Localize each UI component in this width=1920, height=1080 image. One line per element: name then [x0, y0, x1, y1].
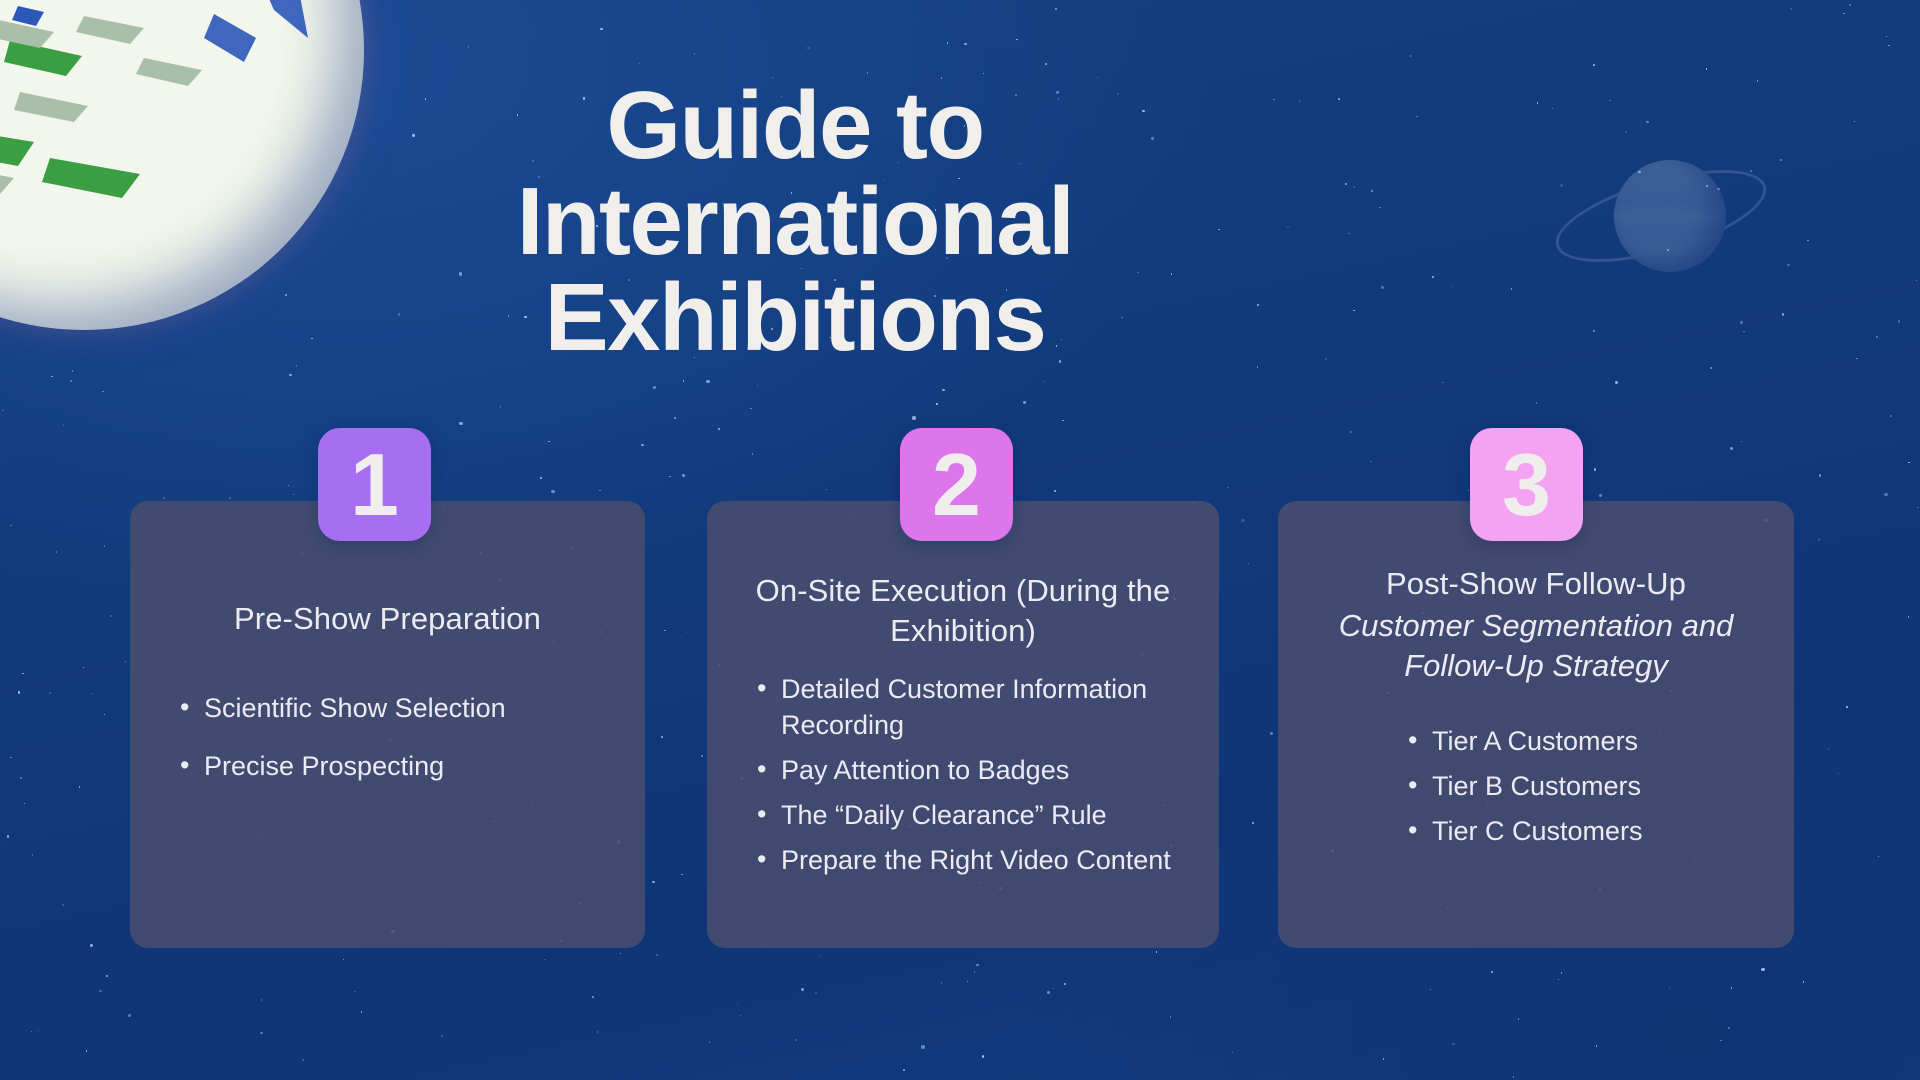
step-badge-1: 1: [318, 428, 431, 541]
step-card-3-bullets: Tier A Customers Tier B Customers Tier C…: [1304, 724, 1768, 850]
step-card-3: Post-Show Follow-Up Customer Segmentatio…: [1278, 501, 1794, 948]
list-item: Tier C Customers: [1406, 814, 1768, 850]
ringed-planet-illustration: [1556, 142, 1766, 292]
step-card-2-title: On-Site Execution (During the Exhibition…: [733, 571, 1193, 650]
step-card-2-bullets: Detailed Customer Information Recording …: [733, 672, 1193, 879]
list-item: Scientific Show Selection: [178, 691, 619, 727]
steps-container: Pre-Show Preparation Scientific Show Sel…: [130, 428, 1794, 948]
list-item: Detailed Customer Information Recording: [755, 672, 1193, 744]
list-item: Prepare the Right Video Content: [755, 843, 1193, 879]
list-item: Pay Attention to Badges: [755, 753, 1193, 789]
page-title: Guide to International Exhibitions: [340, 78, 1250, 366]
list-item: The “Daily Clearance” Rule: [755, 798, 1193, 834]
step-badge-3: 3: [1470, 428, 1583, 541]
list-item: Precise Prospecting: [178, 749, 619, 785]
list-item: Tier A Customers: [1406, 724, 1768, 760]
earth-illustration: [0, 0, 364, 330]
earth-globe: [0, 0, 364, 330]
step-card-2: On-Site Execution (During the Exhibition…: [707, 501, 1219, 948]
step-card-1: Pre-Show Preparation Scientific Show Sel…: [130, 501, 645, 948]
step-badge-2: 2: [900, 428, 1013, 541]
step-card-3-title: Post-Show Follow-Up: [1304, 564, 1768, 604]
step-card-1-bullets: Scientific Show Selection Precise Prospe…: [156, 691, 619, 785]
list-item: Tier B Customers: [1406, 769, 1768, 805]
planet-body: [1614, 160, 1726, 272]
step-card-3-subtitle: Customer Segmentation and Follow-Up Stra…: [1304, 606, 1768, 687]
step-card-1-title: Pre-Show Preparation: [156, 599, 619, 639]
